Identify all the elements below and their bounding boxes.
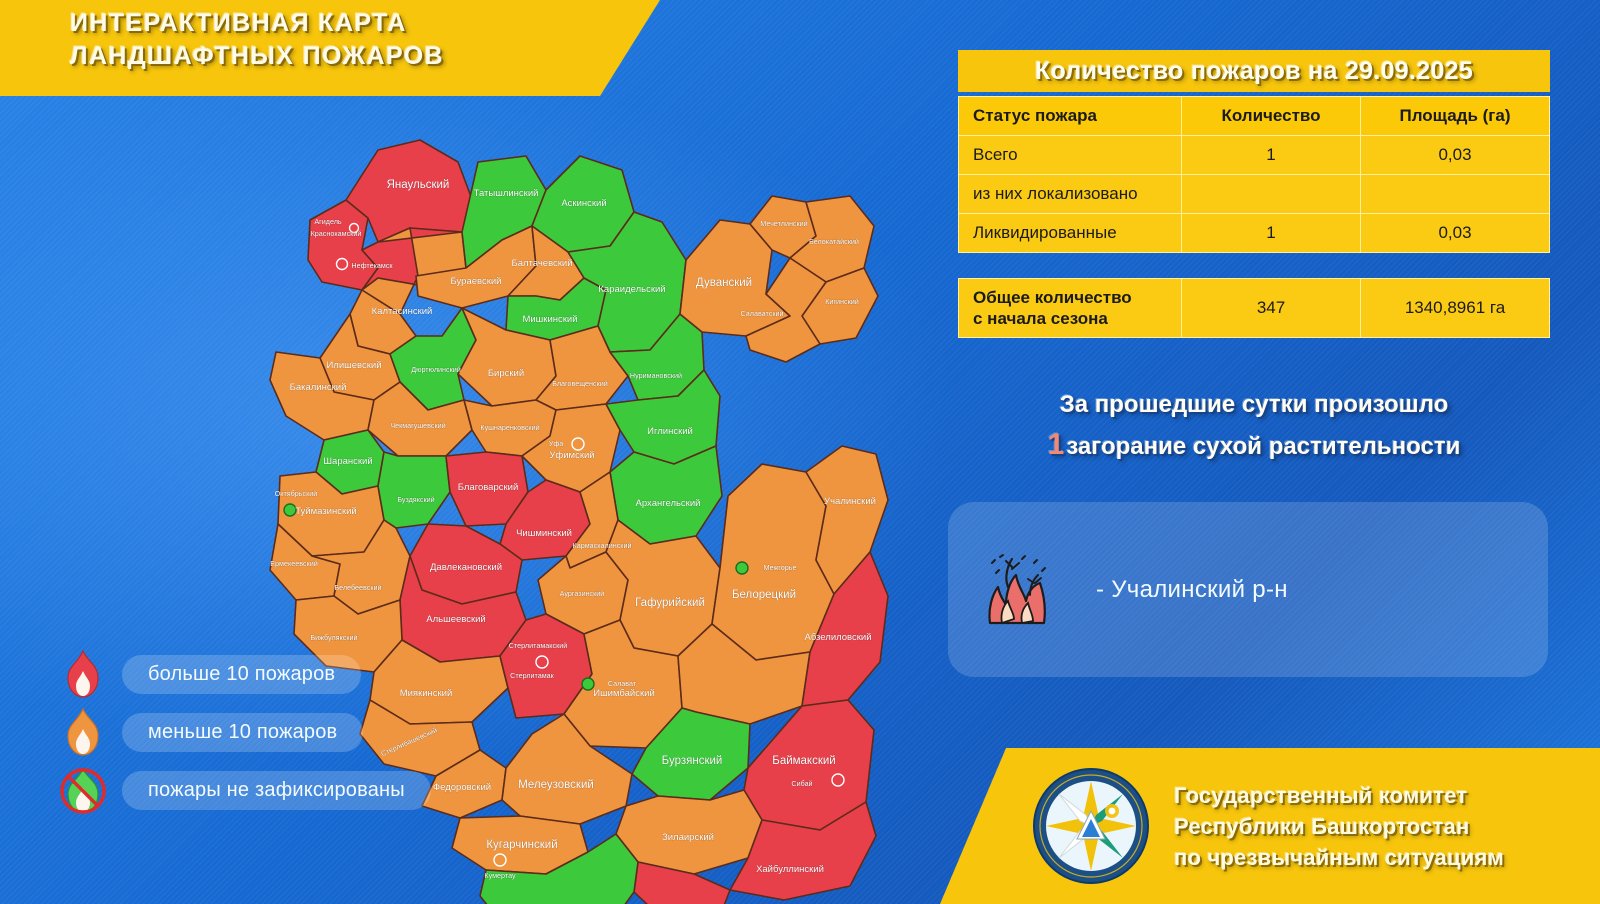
table-row: Всего 1 0,03 (959, 136, 1550, 175)
season-area: 1340,8961 га (1361, 279, 1550, 338)
col-area: Площадь (га) (1361, 97, 1550, 136)
cell-status: Ликвидированные (959, 214, 1182, 253)
header-banner: ИНТЕРАКТИВНАЯ КАРТА ЛАНДШАФТНЫХ ПОЖАРОВ (0, 0, 660, 96)
col-status: Статус пожара (959, 97, 1182, 136)
season-row: Общее количество с начала сезона 347 134… (959, 279, 1550, 338)
grass-fire-icon (978, 551, 1056, 629)
table-row: Ликвидированные 1 0,03 (959, 214, 1550, 253)
headline-line1: За прошедшие сутки произошло (958, 385, 1550, 425)
cell-area (1361, 175, 1550, 214)
emercom-bashkortostan-emblem-icon (1032, 767, 1150, 885)
season-label: Общее количество с начала сезона (959, 279, 1182, 338)
city-dot-mezhgorye (736, 562, 748, 574)
right-panel: Количество пожаров на 29.09.2025 Статус … (940, 0, 1600, 904)
fire-stats-table: Статус пожара Количество Площадь (га) Вс… (958, 96, 1550, 253)
flame-orange-icon (60, 707, 106, 757)
city-dot-salavat (582, 678, 594, 690)
season-count: 347 (1182, 279, 1361, 338)
cell-status: Всего (959, 136, 1182, 175)
incident-card[interactable]: - Учалинский р-н (948, 502, 1548, 677)
headline-line2-wrap: 1загорание сухой растительности (958, 425, 1550, 467)
legend-item-more-than-10[interactable]: больше 10 пожаров (60, 645, 480, 703)
legend-label-no-fires: пожары не зафиксированы (122, 771, 431, 810)
cell-count: 1 (1182, 136, 1361, 175)
cell-status: из них локализовано (959, 175, 1182, 214)
map-legend: больше 10 пожаров меньше 10 пожаров пожа… (60, 645, 480, 819)
cell-area: 0,03 (1361, 214, 1550, 253)
page-title: ИНТЕРАКТИВНАЯ КАРТА ЛАНДШАФТНЫХ ПОЖАРОВ (70, 7, 640, 73)
district-beloretskiy[interactable] (712, 464, 834, 660)
flame-green-prohibited-icon (60, 765, 106, 815)
table-row: из них локализовано (959, 175, 1550, 214)
legend-label-less-than-10: меньше 10 пожаров (122, 713, 363, 752)
headline-count: 1 (1048, 428, 1065, 461)
table-header-row: Статус пожара Количество Площадь (га) (959, 97, 1550, 136)
flame-red-icon (60, 649, 106, 699)
footer-banner: Государственный комитет Республики Башко… (940, 748, 1600, 904)
headline-line2: загорание сухой растительности (1066, 433, 1460, 460)
col-count: Количество (1182, 97, 1361, 136)
legend-item-no-fires[interactable]: пожары не зафиксированы (60, 761, 480, 819)
stats-title: Количество пожаров на 29.09.2025 (958, 50, 1550, 92)
season-total-table: Общее количество с начала сезона 347 134… (958, 278, 1550, 338)
incident-district-label: - Учалинский р-н (1096, 576, 1288, 604)
footer-text: Государственный комитет Республики Башко… (1174, 780, 1504, 873)
city-dot-oktyabrskiy (284, 504, 296, 516)
cell-count (1182, 175, 1361, 214)
district-buzdyakskiy[interactable] (378, 452, 450, 528)
cell-count: 1 (1182, 214, 1361, 253)
cell-area: 0,03 (1361, 136, 1550, 175)
daily-headline: За прошедшие сутки произошло 1загорание … (958, 385, 1550, 467)
legend-item-less-than-10[interactable]: меньше 10 пожаров (60, 703, 480, 761)
legend-label-more-than-10: больше 10 пожаров (122, 655, 361, 694)
